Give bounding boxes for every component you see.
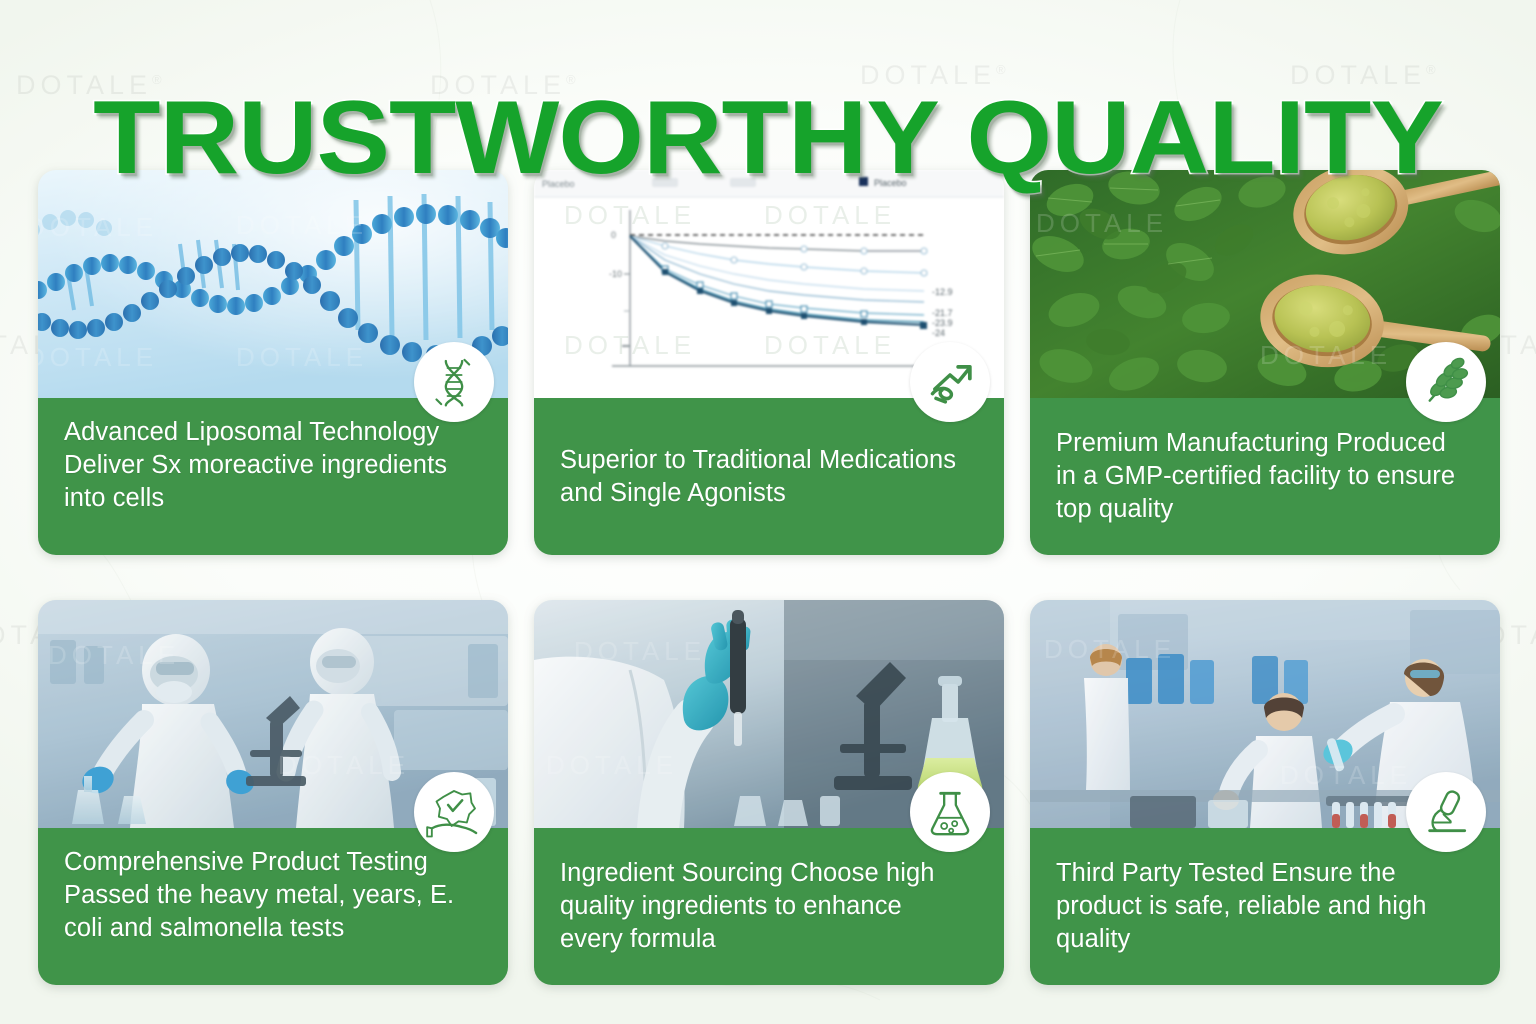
feature-card-comprehensive-product-testing[interactable]: DOTALE DOTALE Comprehensive Product Test… — [38, 600, 508, 985]
card-caption: Premium Manufacturing Produced in a GMP-… — [1056, 427, 1456, 526]
svg-text:0: 0 — [611, 230, 616, 240]
card-caption: Third Party Tested Ensure the product is… — [1056, 857, 1456, 956]
feature-card-premium-manufacturing[interactable]: DOTALE DOTALE Premium Manufacturing Prod… — [1030, 170, 1500, 555]
microscope-icon — [1406, 772, 1486, 852]
leaf-branch-icon — [1406, 342, 1486, 422]
feature-card-third-party-tested[interactable]: DOTALE DOTALE Third Party Tested Ensure … — [1030, 600, 1500, 985]
page-title: TRUSTWORTHY QUALITY — [0, 86, 1536, 190]
card-caption: Advanced Liposomal Technology Deliver Sx… — [64, 416, 464, 515]
svg-text:-12.9: -12.9 — [932, 287, 953, 297]
card-caption-panel: Comprehensive Product Testing Passed the… — [38, 828, 508, 985]
feature-card-superior-to-traditional-medications[interactable]: Placebo Placebo 0 -10 — [534, 170, 1004, 555]
svg-text:-23.9: -23.9 — [932, 318, 953, 328]
feature-card-advanced-liposomal-technology[interactable]: DOTALE DOTALE DOTALE DOTALE Advanced Lip… — [38, 170, 508, 555]
card-caption-panel: Advanced Liposomal Technology Deliver Sx… — [38, 398, 508, 555]
svg-text:-21.7: -21.7 — [932, 308, 953, 318]
flask-icon — [910, 772, 990, 852]
feature-card-grid: DOTALE DOTALE DOTALE DOTALE Advanced Lip… — [38, 170, 1500, 985]
growth-arrow-icon — [910, 342, 990, 422]
card-caption-panel: Premium Manufacturing Produced in a GMP-… — [1030, 398, 1500, 555]
card-caption-panel: Third Party Tested Ensure the product is… — [1030, 828, 1500, 985]
infographic-page: DOTALE® DOTALE® DOTALE® DOTALE® DOTALE® … — [0, 0, 1536, 1024]
card-caption-panel: Superior to Traditional Medications and … — [534, 398, 1004, 555]
card-caption-panel: Ingredient Sourcing Choose high quality … — [534, 828, 1004, 985]
svg-text:-24: -24 — [932, 328, 945, 338]
dna-helix-icon — [414, 342, 494, 422]
svg-text:-10: -10 — [609, 269, 622, 279]
hand-certificate-icon — [414, 772, 494, 852]
card-caption: Comprehensive Product Testing Passed the… — [64, 846, 464, 945]
card-caption: Ingredient Sourcing Choose high quality … — [560, 857, 960, 956]
feature-card-ingredient-sourcing[interactable]: DOTALE DOTALE Ingredient Sourcing Choose… — [534, 600, 1004, 985]
card-caption: Superior to Traditional Medications and … — [560, 444, 960, 510]
